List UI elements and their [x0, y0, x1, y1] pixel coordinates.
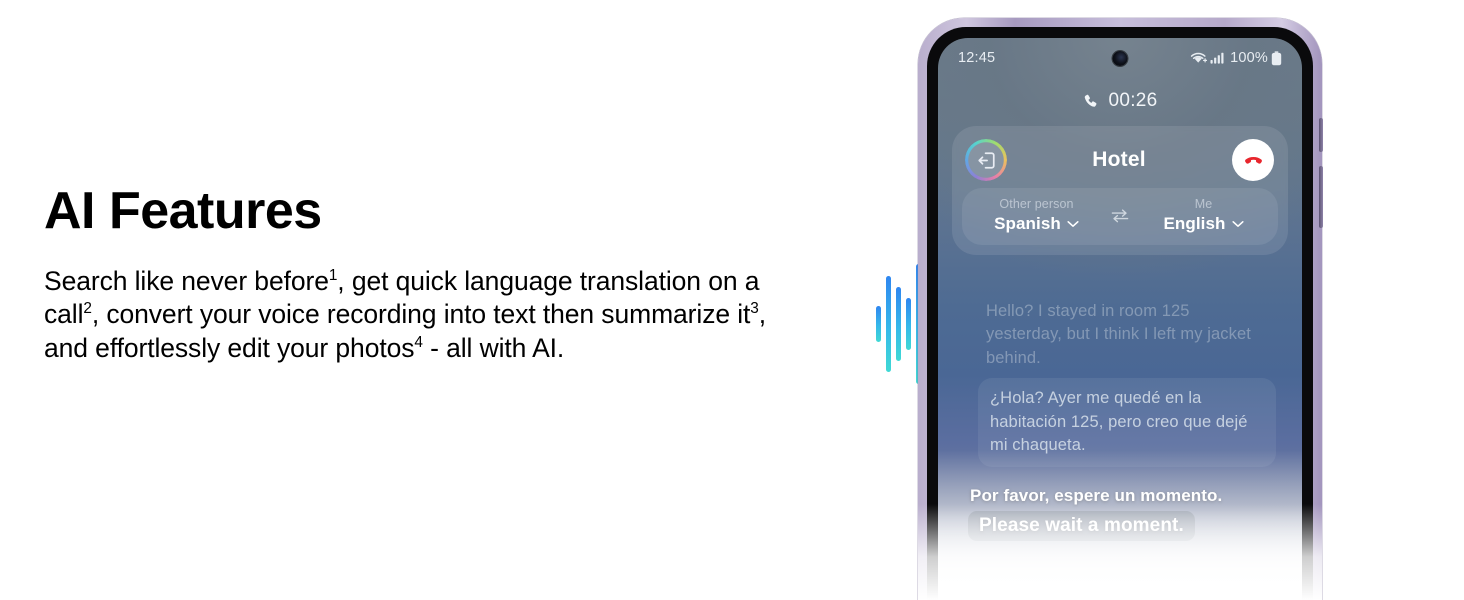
waveform-bar — [886, 276, 891, 372]
me-language-value[interactable]: English — [1163, 214, 1243, 234]
end-call-icon — [1242, 149, 1265, 172]
page-title: AI Features — [44, 184, 804, 239]
caption-translated-text: Please wait a moment. — [968, 511, 1195, 541]
body-segment-1: Search like never before — [44, 266, 329, 296]
swap-languages-button[interactable] — [1103, 207, 1137, 225]
phone-hero-stage: 12:45 100% — [860, 0, 1464, 600]
swap-arrows-icon — [1110, 207, 1130, 223]
marketing-copy-block: AI Features Search like never before1, g… — [44, 184, 804, 366]
waveform-bar — [876, 306, 881, 342]
body-segment-5: - all with AI. — [423, 333, 564, 363]
waveform-bar — [896, 287, 901, 361]
conversation-transcript: Hello? I stayed in room 125 yesterday, b… — [978, 300, 1276, 467]
call-duration: 00:26 — [1108, 90, 1157, 112]
transcript-original-message: Hello? I stayed in room 125 yesterday, b… — [978, 300, 1276, 370]
other-person-language-text: Spanish — [994, 214, 1061, 234]
language-other-person[interactable]: Other person Spanish — [970, 197, 1103, 234]
chevron-down-icon — [1067, 220, 1079, 228]
body-segment-3: , convert your voice recording into text… — [92, 299, 750, 329]
power-button[interactable] — [1319, 166, 1323, 228]
battery-percentage: 100% — [1230, 50, 1268, 66]
other-person-language-value[interactable]: Spanish — [994, 214, 1079, 234]
me-language-text: English — [1163, 214, 1225, 234]
language-selector-card: Other person Spanish — [962, 188, 1278, 245]
status-indicators: 100% — [1190, 50, 1282, 66]
call-timer: 00:26 — [938, 90, 1302, 112]
volume-button[interactable] — [1319, 118, 1323, 152]
front-camera-icon — [1113, 51, 1128, 66]
live-caption-block: Por favor, espere un momento. Please wai… — [968, 486, 1222, 541]
battery-icon — [1271, 51, 1282, 66]
call-header-card: Hotel Other person Spanish — [952, 126, 1288, 255]
status-time: 12:45 — [958, 50, 995, 66]
caption-source-text: Por favor, espere un momento. — [968, 486, 1222, 506]
language-me[interactable]: Me English — [1137, 197, 1270, 234]
cellular-signal-icon — [1210, 51, 1225, 65]
marketing-body-text: Search like never before1, get quick lan… — [44, 265, 804, 366]
exit-app-icon[interactable] — [966, 140, 1006, 180]
call-header-row: Hotel — [962, 134, 1278, 186]
phone-handset-icon — [1082, 93, 1099, 110]
phone-device: 12:45 100% — [918, 18, 1322, 600]
end-call-button[interactable] — [1232, 139, 1274, 181]
footnote-marker-4: 4 — [414, 334, 422, 351]
exit-arrow-icon — [976, 150, 997, 171]
me-label: Me — [1137, 197, 1270, 211]
waveform-bar — [906, 298, 911, 350]
transcript-translated-message: ¿Hola? Ayer me quedé en la habitación 12… — [978, 378, 1276, 466]
contact-name: Hotel — [1006, 148, 1232, 172]
wifi-icon — [1190, 51, 1207, 65]
other-person-label: Other person — [970, 197, 1103, 211]
footnote-marker-2: 2 — [83, 300, 91, 317]
phone-screen: 12:45 100% — [938, 38, 1302, 600]
footnote-marker-3: 3 — [750, 300, 758, 317]
chevron-down-icon — [1232, 220, 1244, 228]
